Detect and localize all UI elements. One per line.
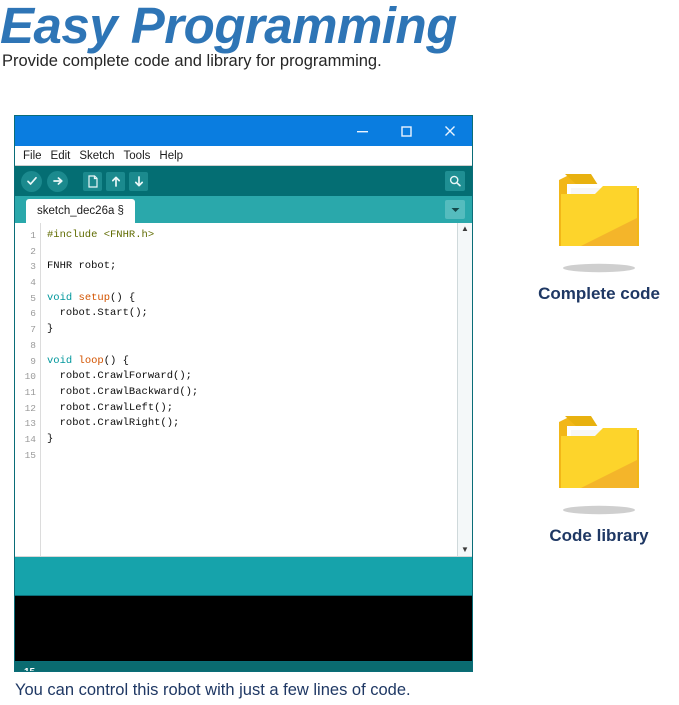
status-line-number: 15 bbox=[24, 667, 35, 672]
line-number: 10 bbox=[15, 369, 40, 385]
code-editor[interactable]: 1 2 3 4 5 6 7 8 9 10 11 12 13 14 15 #inc… bbox=[15, 223, 472, 557]
menu-item-sketch[interactable]: Sketch bbox=[79, 150, 114, 162]
code-token-preprocessor: #include <FNHR.h> bbox=[47, 229, 154, 241]
menu-item-tools[interactable]: Tools bbox=[124, 150, 151, 162]
line-number: 2 bbox=[15, 244, 40, 260]
arrow-down-icon bbox=[133, 175, 145, 188]
arrow-right-icon bbox=[51, 174, 65, 188]
minimize-icon[interactable] bbox=[340, 116, 384, 146]
line-number: 15 bbox=[15, 448, 40, 464]
ide-status-strip bbox=[15, 557, 472, 595]
code-line: void loop() { bbox=[47, 354, 457, 370]
checkmark-icon bbox=[25, 174, 39, 188]
new-sketch-button[interactable] bbox=[83, 172, 102, 191]
code-line: } bbox=[47, 432, 457, 448]
line-number: 11 bbox=[15, 385, 40, 401]
chevron-down-icon[interactable]: ▼ bbox=[461, 546, 469, 554]
menu-item-help[interactable]: Help bbox=[159, 150, 183, 162]
code-line bbox=[47, 275, 457, 291]
line-number: 5 bbox=[15, 291, 40, 307]
line-number: 6 bbox=[15, 306, 40, 322]
save-button[interactable] bbox=[129, 172, 148, 191]
code-token: robot.Start(); bbox=[47, 307, 148, 319]
line-number: 14 bbox=[15, 432, 40, 448]
code-line: #include <FNHR.h> bbox=[47, 228, 457, 244]
menu-item-edit[interactable]: Edit bbox=[51, 150, 71, 162]
code-token: FNHR robot; bbox=[47, 260, 116, 272]
line-number: 12 bbox=[15, 401, 40, 417]
code-token-function: setup bbox=[79, 292, 111, 304]
line-number: 9 bbox=[15, 354, 40, 370]
serial-monitor-button[interactable] bbox=[445, 171, 465, 191]
line-number: 3 bbox=[15, 259, 40, 275]
complete-code-block: Complete code bbox=[519, 158, 679, 304]
code-token-keyword: void bbox=[47, 355, 79, 367]
code-token: robot.CrawlBackward(); bbox=[47, 386, 198, 398]
code-line bbox=[47, 448, 457, 464]
code-line bbox=[47, 244, 457, 260]
code-line: robot.CrawlBackward(); bbox=[47, 385, 457, 401]
code-token: robot.CrawlForward(); bbox=[47, 370, 192, 382]
ide-title-bar bbox=[15, 116, 472, 146]
chevron-down-icon bbox=[450, 206, 461, 214]
folder-shadow bbox=[549, 504, 649, 516]
code-line: robot.Start(); bbox=[47, 306, 457, 322]
ide-toolbar bbox=[15, 166, 472, 196]
ide-status-bar: 15 bbox=[15, 662, 472, 672]
code-token-function: loop bbox=[79, 355, 104, 367]
line-number: 1 bbox=[15, 228, 40, 244]
code-token: } bbox=[47, 323, 53, 335]
page-subtitle: Provide complete code and library for pr… bbox=[2, 52, 382, 71]
folder-shadow bbox=[549, 262, 649, 274]
code-line: void setup() { bbox=[47, 291, 457, 307]
tab-dropdown-button[interactable] bbox=[445, 200, 465, 219]
arduino-ide-window: File Edit Sketch Tools Help bbox=[14, 115, 473, 672]
open-button[interactable] bbox=[106, 172, 125, 191]
maximize-icon[interactable] bbox=[384, 116, 428, 146]
code-token: robot.CrawlRight(); bbox=[47, 417, 179, 429]
folder-icon bbox=[547, 158, 651, 258]
ide-console-output[interactable] bbox=[15, 595, 472, 662]
line-number: 8 bbox=[15, 338, 40, 354]
folder-label-complete-code: Complete code bbox=[519, 284, 679, 304]
folder-label-code-library: Code library bbox=[519, 526, 679, 546]
code-line bbox=[47, 338, 457, 354]
code-library-block: Code library bbox=[519, 400, 679, 546]
line-number-gutter: 1 2 3 4 5 6 7 8 9 10 11 12 13 14 15 bbox=[15, 223, 41, 556]
code-token: () { bbox=[110, 292, 135, 304]
editor-vertical-scrollbar[interactable]: ▲ ▼ bbox=[457, 223, 472, 556]
code-token-keyword: void bbox=[47, 292, 79, 304]
arrow-up-icon bbox=[110, 175, 122, 188]
folder-icon bbox=[547, 400, 651, 500]
code-line: FNHR robot; bbox=[47, 259, 457, 275]
code-token: } bbox=[47, 433, 53, 445]
line-number: 13 bbox=[15, 416, 40, 432]
page-title: Easy Programming bbox=[0, 0, 457, 55]
code-token: () { bbox=[104, 355, 129, 367]
line-number: 7 bbox=[15, 322, 40, 338]
code-token: robot.CrawlLeft(); bbox=[47, 402, 173, 414]
bottom-caption: You can control this robot with just a f… bbox=[15, 681, 411, 700]
code-line: robot.CrawlRight(); bbox=[47, 416, 457, 432]
verify-button[interactable] bbox=[21, 171, 42, 192]
magnifier-icon bbox=[448, 174, 462, 188]
ide-tab-bar: sketch_dec26a § bbox=[15, 196, 472, 223]
menu-item-file[interactable]: File bbox=[23, 150, 42, 162]
ide-menu-bar: File Edit Sketch Tools Help bbox=[15, 146, 472, 166]
line-number: 4 bbox=[15, 275, 40, 291]
page-icon bbox=[87, 175, 99, 188]
tab-sketch-dec26a[interactable]: sketch_dec26a § bbox=[26, 199, 135, 223]
code-line: } bbox=[47, 322, 457, 338]
slide-root: Easy Programming Provide complete code a… bbox=[0, 0, 679, 705]
code-text-area[interactable]: #include <FNHR.h> FNHR robot; void setup… bbox=[41, 223, 457, 556]
upload-button[interactable] bbox=[47, 171, 68, 192]
code-line: robot.CrawlLeft(); bbox=[47, 401, 457, 417]
close-icon[interactable] bbox=[428, 116, 472, 146]
chevron-up-icon[interactable]: ▲ bbox=[461, 225, 469, 233]
code-line: robot.CrawlForward(); bbox=[47, 369, 457, 385]
